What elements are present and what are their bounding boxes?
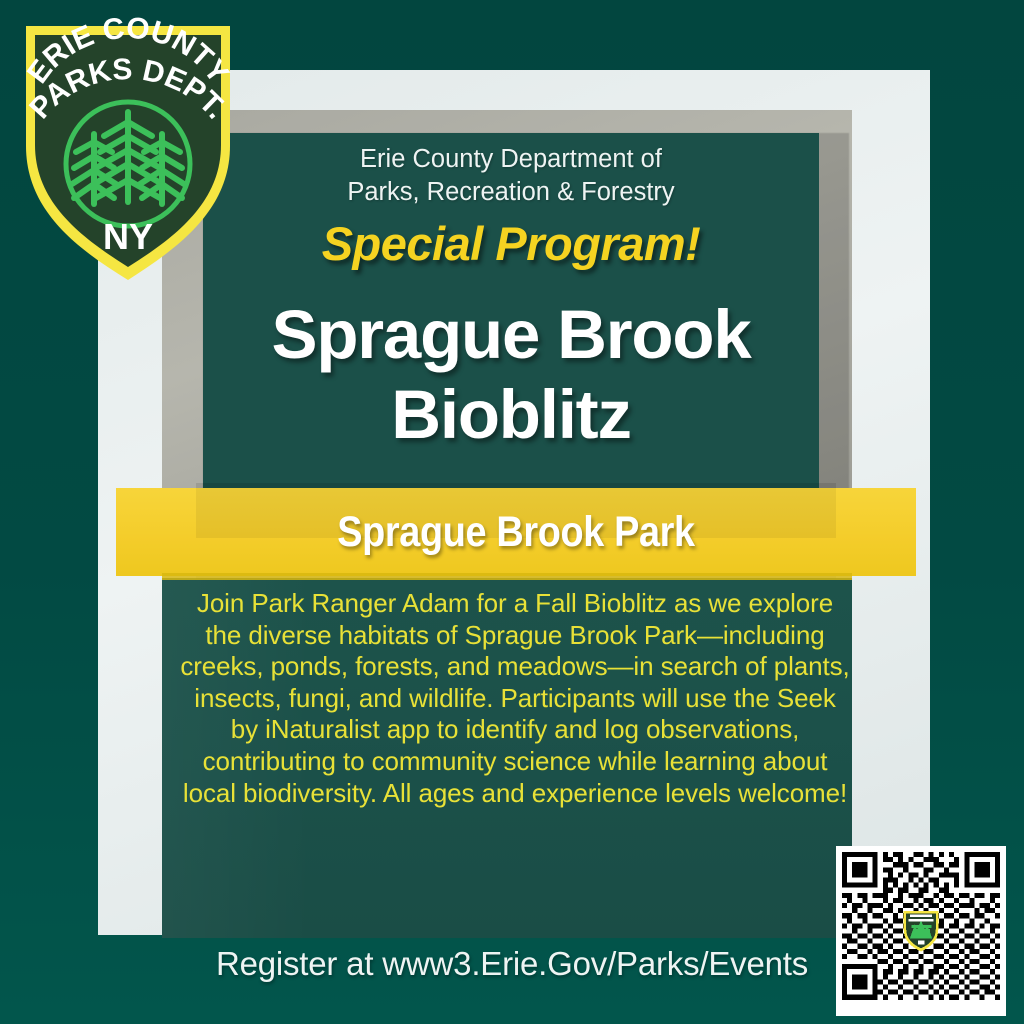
department-line-1: Erie County Department of [203,143,819,176]
special-program-kicker: Special Program! [203,216,819,271]
title-line-1: Sprague Brook [203,295,819,375]
location-banner-label: Sprague Brook Park [164,488,868,576]
qr-code[interactable] [836,846,1006,1016]
poster-canvas: Erie County Department of Parks, Recreat… [0,0,1024,1024]
shield-state-label: NY [103,216,153,257]
page-title: Sprague Brook Bioblitz [203,295,819,455]
agency-logo: ERIE COUNTY PARKS DEPT. NY [8,4,248,294]
qr-code-matrix [842,852,1000,1010]
title-line-2: Bioblitz [203,375,819,455]
department-line-2: Parks, Recreation & Forestry [203,176,819,209]
shield-icon: ERIE COUNTY PARKS DEPT. NY [8,4,248,294]
department-name: Erie County Department of Parks, Recreat… [203,143,819,209]
event-description: Join Park Ranger Adam for a Fall Bioblit… [180,588,850,809]
